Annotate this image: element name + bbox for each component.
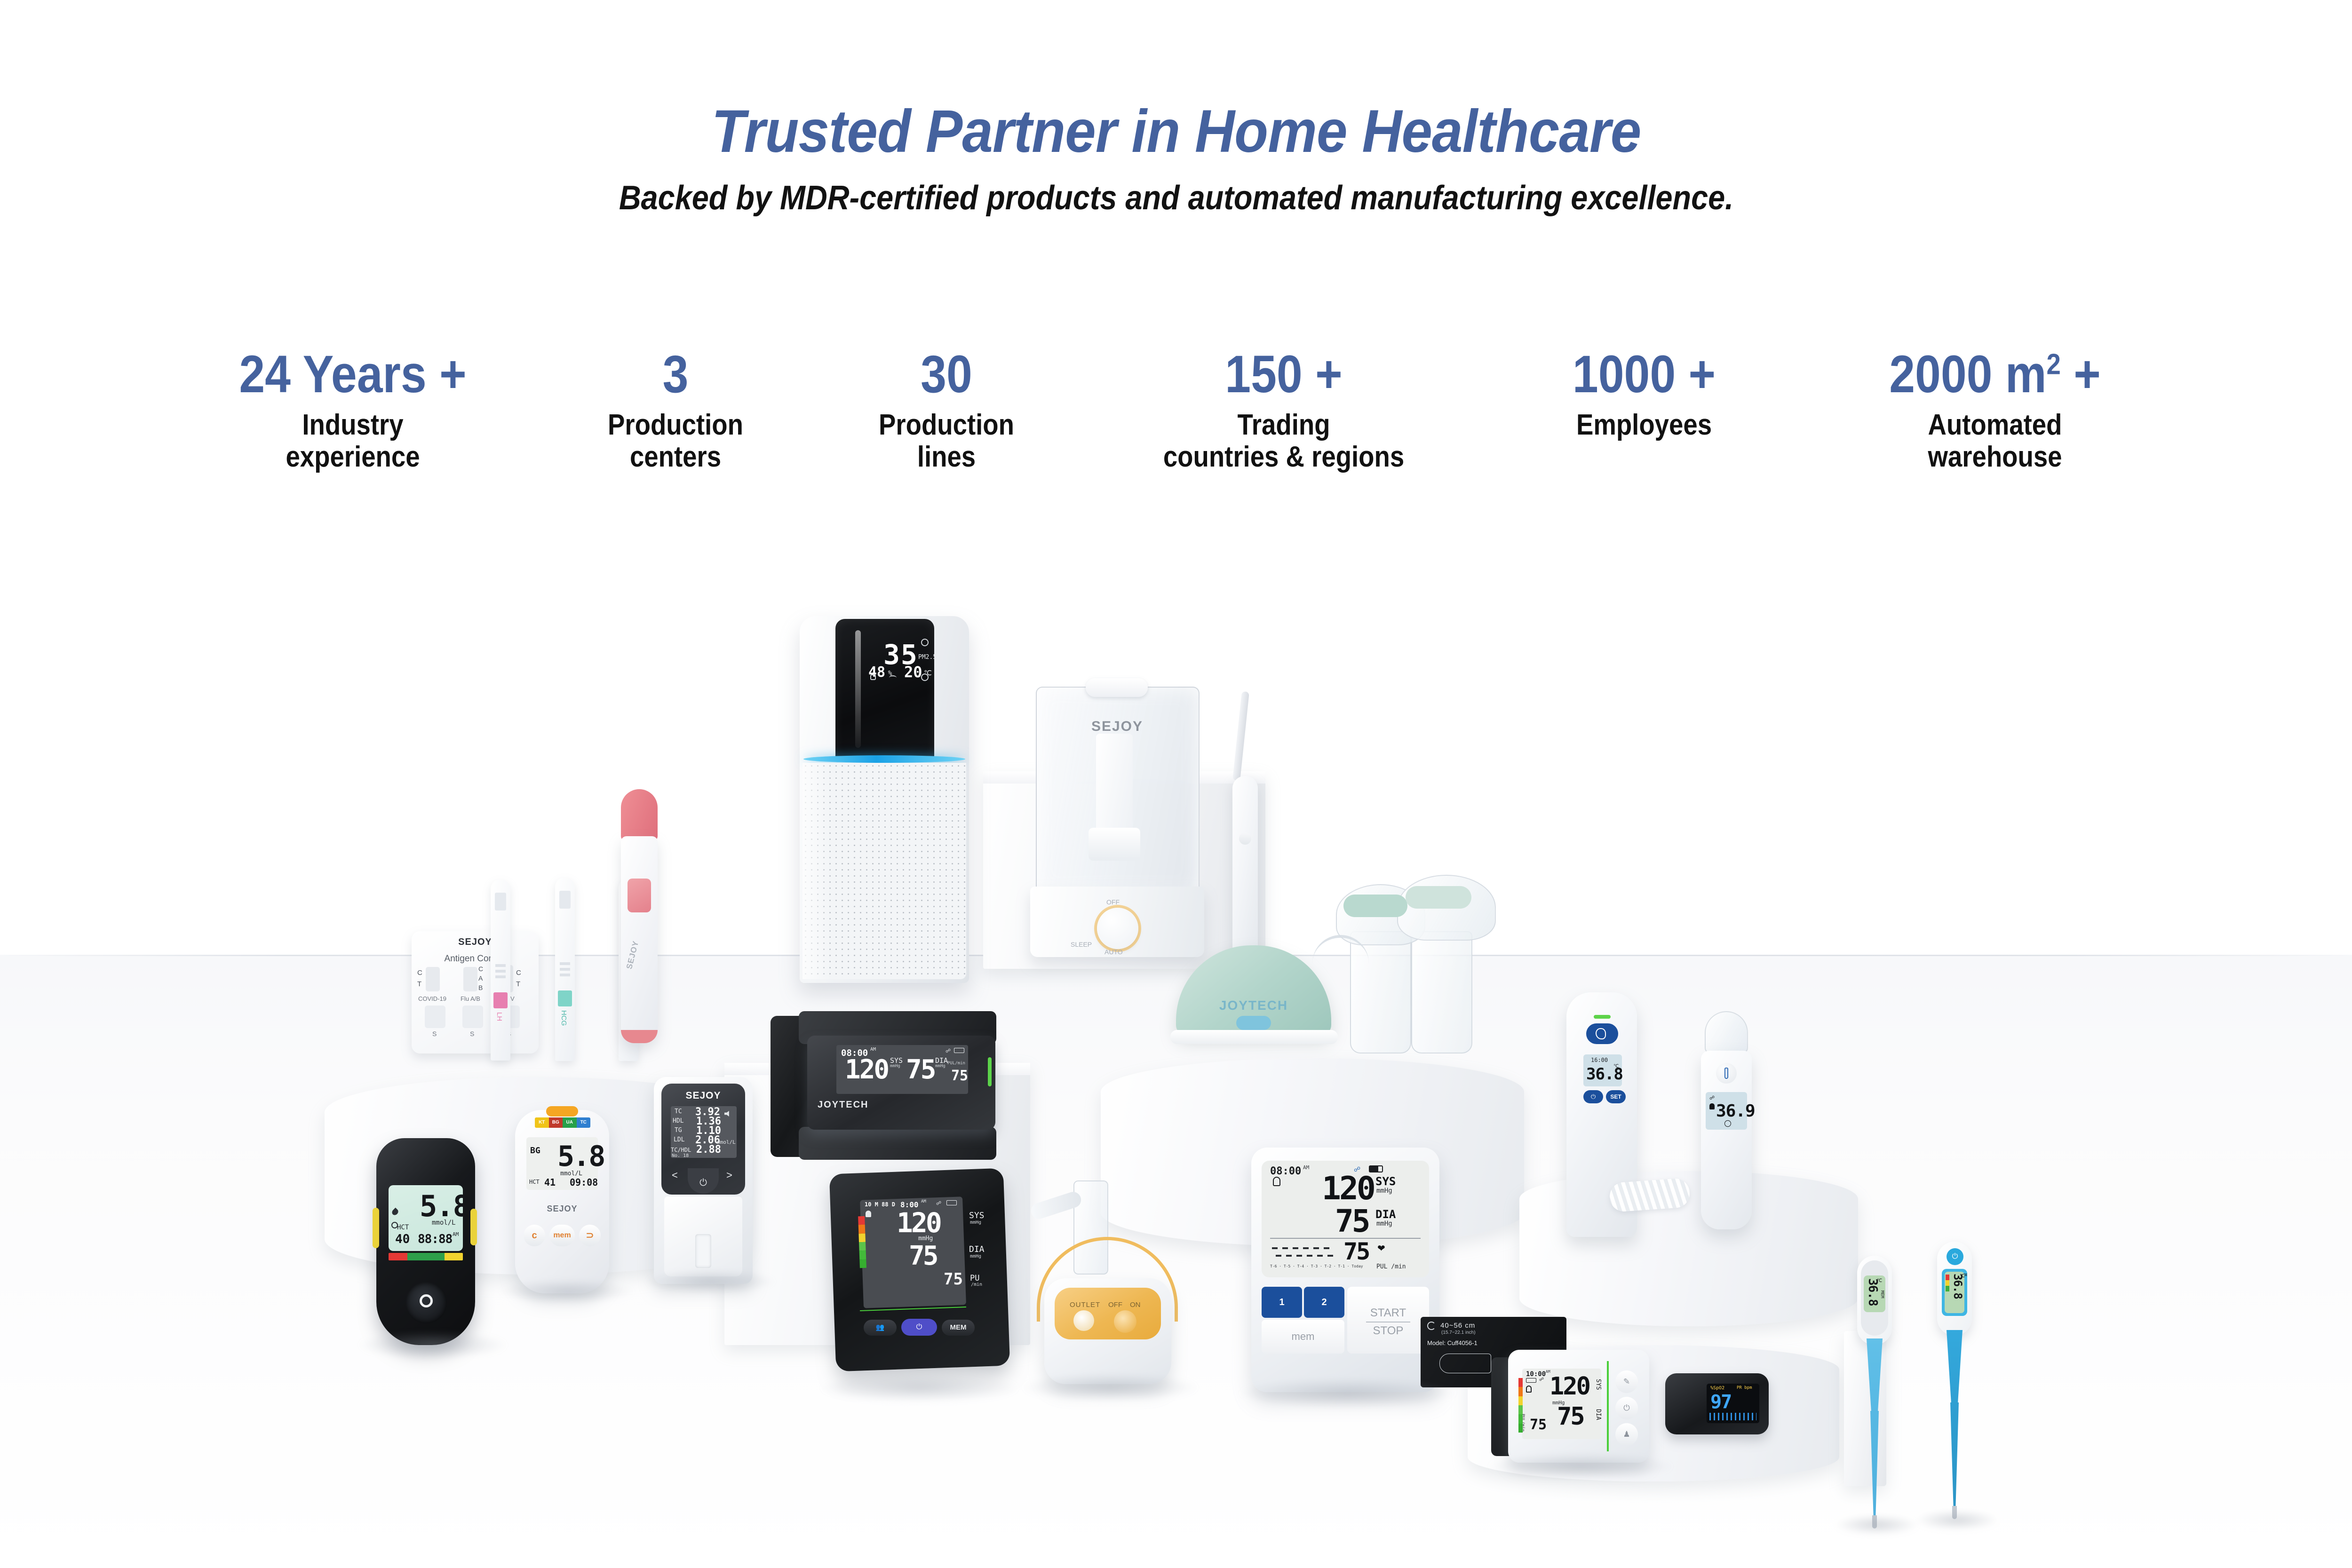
antigen-mark-t1: T (417, 980, 421, 988)
bp-wrist-white-power-button[interactable]: ⏻ (1615, 1397, 1638, 1419)
cholesterol-meter-record: No. 18 (672, 1153, 689, 1158)
bp-arm-black-mem-button[interactable]: MEM (942, 1320, 975, 1336)
bp-wrist-white-sys: 120 (1549, 1372, 1589, 1401)
cuff-size-label: 40~56 cm (1440, 1322, 1475, 1330)
bluetooth-icon: ☍ (936, 1200, 941, 1206)
antigen-sample-port-1: S (432, 1030, 437, 1037)
glucose-meter-black-value: 5.8 (420, 1189, 469, 1223)
bp-arm-black-sys-label: SYS (969, 1211, 985, 1220)
forehead-thermometer-probe-cover (1705, 1011, 1748, 1053)
product-personal-care-device[interactable]: SEJOY (621, 789, 658, 1048)
humidifier-dial-off-label: OFF (1106, 898, 1120, 906)
bp-arm-black-sys: 120 (897, 1207, 940, 1239)
bp-arm-white-sys-unit: mmHg (1376, 1187, 1392, 1195)
air-purifier-temperature: 20 (904, 663, 922, 681)
stat-value: 150 + (1139, 348, 1429, 401)
bp-wrist-white-classification-bar (1518, 1378, 1523, 1433)
cholesterol-row-hdl-label: HDL (673, 1117, 683, 1125)
nebulizer-on-label: ON (1130, 1301, 1141, 1309)
pulse-oximeter-spo2-label: %SpO2 (1710, 1386, 1724, 1391)
product-bp-wrist-white[interactable]: 10:00 AM ☍ 120 SYS mmHg 75 DIA 75 PUL/mi… (1501, 1350, 1651, 1467)
bp-wrist-black-ampm: AM (870, 1047, 876, 1052)
glucose-meter-black-ampm: AM (453, 1231, 459, 1237)
bp-arm-white-history-labels: T-6 · T-5 · T-4 · T-3 · T-2 · T-1 · Toda… (1270, 1264, 1363, 1268)
shadow (644, 1270, 776, 1293)
minus-mode-icon (921, 673, 929, 681)
smiley-icon (1724, 1120, 1731, 1127)
cholesterol-row-tc-label: TC (675, 1108, 682, 1115)
ear-thermometer-value: 36.8 (1586, 1065, 1623, 1084)
glucose-meter-black-hct-value: 40 (395, 1232, 410, 1246)
bp-arm-white-mem-button[interactable]: mem (1262, 1320, 1344, 1354)
nebulizer-outlet-label: OUTLET (1070, 1301, 1100, 1309)
cholesterol-row-ratio-value: 2.88 (696, 1144, 721, 1156)
bp-arm-white-dia-label: DIA (1375, 1208, 1396, 1221)
product-antigen-test[interactable]: SEJOY Antigen Combo C T C A B C T COVID-… (412, 931, 539, 1053)
arm-illustration-icon (1439, 1354, 1491, 1373)
bp-wrist-black-unit-sys: mmHg (890, 1064, 900, 1069)
stat-value: 24 Years + (220, 348, 485, 401)
bp-wrist-white-pul: 75 (1530, 1417, 1547, 1433)
digital-thermometer-1-stem (1867, 1338, 1883, 1414)
bp-arm-white-user2-button[interactable]: 2 (1304, 1287, 1344, 1318)
button-c[interactable]: c (524, 1225, 545, 1246)
product-digital-thermometer-1[interactable]: 36.8 ℃ MEM (1853, 1256, 1896, 1538)
stat-value: 30 (860, 348, 1034, 401)
stat-label: Production centers (588, 409, 763, 473)
bp-arm-white-dia: 75 (1335, 1203, 1368, 1239)
shadow (1486, 1453, 1675, 1480)
bp-arm-white-start-stop-button[interactable]: START STOP (1347, 1287, 1429, 1354)
stat-label: Automated warehouse (1859, 409, 2132, 473)
shadow (1835, 1514, 1919, 1535)
ear-thermometer-power-button[interactable]: ⏻ (1583, 1090, 1603, 1103)
button-next[interactable]: ⊃ (579, 1225, 601, 1246)
page-subtitle: Backed by MDR-certified products and aut… (118, 179, 2235, 217)
shadow (1237, 1378, 1458, 1408)
product-air-purifier[interactable]: 35 PM2.5 20 ℃ 48 % (800, 616, 969, 983)
battery-icon (954, 1048, 964, 1053)
stat-label: Industry experience (220, 409, 485, 473)
page-title: Trusted Partner in Home Healthcare (94, 101, 2258, 163)
bp-arm-white-pul: 75 (1343, 1238, 1369, 1265)
tab-bg[interactable]: BG (549, 1117, 563, 1128)
stat-value: 1000 + (1536, 348, 1752, 401)
antigen-panel-flu: Flu A/B (461, 995, 480, 1002)
stat-value: 3 (588, 348, 763, 401)
product-cholesterol-meter[interactable]: SEJOY TC 3.92 HDL 1.36 TG 1.10 LDL 2.06 … (654, 1077, 753, 1284)
product-breast-pump[interactable]: JOYTECH (1167, 875, 1505, 1101)
breast-pump-bottle-right (1411, 931, 1472, 1053)
cuff-size-inches: (15.7~22.1 inch) (1441, 1330, 1476, 1335)
auto-mode-icon (921, 639, 929, 646)
product-multi-monitor-white[interactable]: KT BG UA TC BG 5.8 mmol/L HCT 41 09:08 S… (515, 1110, 609, 1293)
bp-arm-black-user-button[interactable]: 👥 (864, 1320, 897, 1336)
bp-arm-white-pul-label: PUL /min (1376, 1263, 1406, 1270)
multi-monitor-brand: SEJOY (515, 1204, 609, 1214)
smiley-icon (391, 1222, 398, 1228)
bp-wrist-white-dia: 75 (1557, 1402, 1584, 1431)
shadow (499, 1279, 635, 1304)
cholesterol-row-ldl-label: LDL (674, 1136, 684, 1143)
stat-label: Trading countries & regions (1139, 409, 1429, 473)
breast-pump-brand: JOYTECH (1167, 998, 1341, 1013)
product-digital-thermometer-2[interactable]: ⏻ 36.8 ℃ M (1933, 1242, 1976, 1528)
pulse-oximeter-pr-label: PR bpm (1737, 1386, 1752, 1390)
nebulizer-off-label: OFF (1108, 1301, 1122, 1309)
bp-wrist-black-pul-label: PUL/min (947, 1061, 965, 1066)
bp-arm-black-pu-label: PU (970, 1274, 979, 1283)
bp-arm-white-sys-label: SYS (1375, 1175, 1396, 1188)
ear-thermometer-status-led (1594, 1015, 1611, 1019)
shadow (358, 1331, 508, 1359)
antigen-mark-b: B (478, 984, 483, 991)
bp-wrist-black-sys: 120 (845, 1054, 888, 1085)
stat-production-lines: 30 Production lines (848, 348, 1045, 473)
cholesterol-row-tg-label: TG (675, 1127, 682, 1134)
antigen-sample-port-2: S (470, 1030, 474, 1037)
bp-arm-white-sys: 120 (1322, 1170, 1374, 1207)
ear-thermometer-cord (1609, 1178, 1691, 1212)
stat-production-centers: 3 Production centers (577, 348, 774, 473)
bp-arm-white-time: 08:00 (1270, 1165, 1301, 1177)
cholesterol-strip-slot[interactable] (695, 1234, 711, 1268)
glucose-meter-black-time: 88:88 (418, 1232, 452, 1246)
wifi-icon (889, 675, 897, 680)
multi-monitor-strip-slot[interactable] (546, 1106, 578, 1117)
header: Trusted Partner in Home Healthcare Backe… (0, 101, 2352, 217)
product-bp-arm-black[interactable]: 10 M 88 D 8:00 AM ☍ 120 SYS mmHg mmHg 75… (833, 1143, 1011, 1387)
bp-arm-black-mem: 10 M 88 D (865, 1201, 895, 1208)
bp-arm-white-dia-unit: mmHg (1376, 1220, 1392, 1227)
irrigator-power-button[interactable] (1239, 832, 1251, 845)
bp-arm-black-pu: 75 (944, 1270, 963, 1289)
bp-arm-black-dia-label: DIA (969, 1244, 985, 1254)
air-purifier-pm25-label: PM2.5 (918, 654, 937, 661)
tab-tc[interactable]: TC (577, 1117, 591, 1128)
bp-arm-black-sys-unit: mmHg (970, 1220, 981, 1225)
bp-arm-white-start-label: START (1347, 1287, 1429, 1320)
product-bp-arm-white[interactable]: 08:00 AM ☍ 120 SYS mmHg 75 DIA mmHg 75 ❤… (1251, 1148, 1439, 1392)
breast-pump-valve-left (1343, 895, 1407, 917)
bp-arm-black-ampm: AM (921, 1199, 926, 1204)
irrigator-nozzle (1232, 691, 1249, 781)
stat-industry-experience: 24 Years + Industry experience (202, 348, 503, 473)
tab-ua[interactable]: UA (563, 1117, 577, 1128)
product-glucose-meter-black[interactable]: 5.8 mmol/L HCT 40 88:88 AM (376, 1138, 475, 1345)
antigen-test-title: Antigen Combo (412, 954, 539, 964)
shadow (1021, 1373, 1200, 1402)
shadow (818, 1373, 1021, 1402)
cholesterol-meter-brand: SEJOY (654, 1090, 753, 1101)
bluetooth-icon: ☍ (946, 1048, 951, 1054)
bp-arm-white-stop-label: STOP (1347, 1324, 1429, 1338)
battery-icon (1526, 1378, 1536, 1383)
bp-wrist-white-record-button[interactable]: ✎ (1615, 1370, 1638, 1393)
button-mem[interactable]: mem (549, 1225, 575, 1246)
bp-wrist-black-status-led (988, 1057, 992, 1086)
bp-wrist-white-sys-label: SYS (1595, 1379, 1602, 1390)
ear-thermometer-set-button[interactable]: SET (1606, 1090, 1626, 1103)
test-strip-label: LH (495, 1012, 503, 1021)
thermometer-icon (1724, 1068, 1728, 1079)
stat-value: 2000 m2 + (1859, 348, 2132, 401)
digital-thermometer-1-unit: ℃ (1877, 1278, 1882, 1283)
multi-monitor-mode: BG (530, 1146, 540, 1156)
digital-thermometer-2-power-button[interactable]: ⏻ (1947, 1248, 1963, 1265)
stat-employees: 1000 + Employees (1522, 348, 1766, 441)
glucose-meter-black-unit: mmol/L (432, 1219, 456, 1227)
antigen-mark-a: A (478, 974, 483, 982)
digital-thermometer-1-mem: MEM (1880, 1291, 1884, 1298)
stat-label: Production lines (860, 409, 1034, 473)
glucose-meter-black-range-bar (389, 1253, 463, 1260)
humidifier-dial-sleep-label: SLEEP (1071, 941, 1092, 948)
bp-arm-black-power-button[interactable]: ⏻ (901, 1319, 937, 1336)
multi-monitor-mode-tabs[interactable]: KT BG UA TC (535, 1117, 590, 1128)
humidifier-dial[interactable] (1097, 908, 1138, 949)
multi-monitor-hct-value: 41 (544, 1177, 556, 1188)
cholesterol-meter-unit: mmol/L (717, 1139, 736, 1145)
nebulizer-power-switch[interactable] (1114, 1310, 1136, 1333)
bp-wrist-black-brand: JOYTECH (818, 1100, 868, 1110)
digital-thermometer-2-stem (1947, 1330, 1963, 1405)
pulse-oximeter-waveform (1709, 1413, 1756, 1420)
product-pulse-oximeter[interactable]: %SpO2 PR bpm 97 (1665, 1373, 1769, 1434)
stat-automated-warehouse: 2000 m2 + Automated warehouse (1840, 348, 2150, 473)
cholesterol-prev-button[interactable]: < (672, 1169, 678, 1181)
shadow (1915, 1510, 1999, 1530)
glucose-meter-side-button[interactable] (373, 1208, 379, 1248)
hero-banner: Trusted Partner in Home Healthcare Backe… (0, 0, 2352, 1568)
product-forehead-thermometer[interactable]: ☍ 36.9 (1698, 1011, 1755, 1232)
antigen-test-brand: SEJOY (412, 937, 539, 948)
device-cap (621, 789, 658, 841)
multi-monitor-value: 5.8 (557, 1140, 604, 1173)
multi-monitor-time: 09:08 (570, 1177, 598, 1188)
antigen-mark-c3: C (516, 969, 521, 977)
battery-icon (946, 1200, 957, 1205)
bp-arm-white-user1-button[interactable]: 1 (1262, 1287, 1302, 1318)
bp-arm-black-dia-unit: mmHg (970, 1254, 981, 1259)
multi-monitor-button-row[interactable]: c mem ⊃ (524, 1225, 601, 1246)
pulse-oximeter-spo2-value: 97 (1710, 1391, 1731, 1413)
breast-pump-valve-right (1406, 886, 1471, 909)
tab-kt[interactable]: KT (535, 1117, 549, 1128)
bp-wrist-black-pul: 75 (951, 1068, 968, 1084)
bp-arm-black-pu-unit: /min (971, 1282, 982, 1287)
humidifier-brand: SEJOY (1025, 719, 1209, 735)
breast-pump-power-button[interactable] (1236, 1016, 1271, 1030)
user-icon (866, 1211, 871, 1217)
antigen-mark-c1: C (417, 969, 422, 977)
stat-label: Employees (1536, 409, 1752, 441)
product-ear-thermometer[interactable]: 16:00 ℃ 36.8 ⏻ SET (1566, 992, 1637, 1237)
user-icon (1526, 1386, 1532, 1393)
test-strip-lh[interactable]: LH (491, 879, 510, 1061)
glucose-meter-black-hct-label: HCT (397, 1224, 409, 1231)
multi-monitor-unit: mmol/L (560, 1170, 582, 1177)
cholesterol-row-ratio-label: TC/HDL (671, 1147, 691, 1153)
stat-value-superscript: 2 (2046, 348, 2060, 381)
nebulizer-outlet-port[interactable] (1073, 1310, 1094, 1331)
antigen-panel-covid: COVID-19 (418, 995, 446, 1002)
test-strip-hcg[interactable]: HCG (555, 878, 575, 1061)
user-icon (1273, 1177, 1280, 1186)
humidifier-lid[interactable] (1086, 678, 1148, 697)
air-purifier-light-ring (803, 755, 965, 763)
device-power-button[interactable] (628, 879, 651, 912)
bp-wrist-white-dia-label: DIA (1595, 1409, 1602, 1420)
bp-wrist-black-dia: 75 (906, 1054, 935, 1085)
rotate-icon (1427, 1322, 1436, 1330)
cholesterol-next-button[interactable]: > (726, 1169, 732, 1181)
multi-monitor-hct-label: HCT (529, 1179, 540, 1185)
stat-value-prefix: 2000 m (1889, 345, 2046, 404)
bp-wrist-white-user-button[interactable]: ♟ (1615, 1423, 1638, 1446)
forehead-thermometer-value: 36.9 (1716, 1101, 1755, 1121)
ear-thermometer-time: 16:00 (1591, 1057, 1608, 1063)
bp-arm-black-dia: 75 (909, 1241, 937, 1271)
lock-icon (870, 674, 876, 680)
ear-icon (1596, 1028, 1606, 1039)
heart-icon: ❤ (1377, 1243, 1385, 1254)
stat-trading-countries: 150 + Trading countries & regions (1119, 348, 1448, 473)
product-lineup: 35 PM2.5 20 ℃ 48 % SEJOY OFF AU (0, 578, 2352, 1568)
bluetooth-icon: ☍ (1709, 1095, 1715, 1101)
bluetooth-icon: ☍ (1539, 1377, 1544, 1382)
digital-thermometer-2-mem: M (1963, 1274, 1967, 1276)
stat-value-suffix: + (2061, 345, 2101, 404)
product-bp-wrist-black[interactable]: 08:00 AM 120 SYS mmHg 75 DIA mmHg 75 PUL… (771, 1016, 1001, 1157)
bp-wrist-black-unit-dia: mmHg (935, 1064, 946, 1069)
stats-row: 24 Years + Industry experience 3 Product… (202, 348, 2150, 473)
bp-arm-white-ampm: AM (1303, 1164, 1309, 1171)
product-nebulizer[interactable]: OUTLET OFF ON (1030, 1180, 1185, 1387)
antigen-mark-t3: T (516, 980, 520, 988)
antigen-mark-c2: C (478, 965, 483, 973)
user-icon (1709, 1103, 1715, 1109)
cuff-model-label: Model: Cuff4056-1 (1427, 1339, 1478, 1346)
nebulizer-face-plate (1055, 1288, 1161, 1339)
test-strip-label: HCG (560, 1010, 568, 1026)
humidifier-dial-auto-label: AUTO (1104, 948, 1123, 956)
